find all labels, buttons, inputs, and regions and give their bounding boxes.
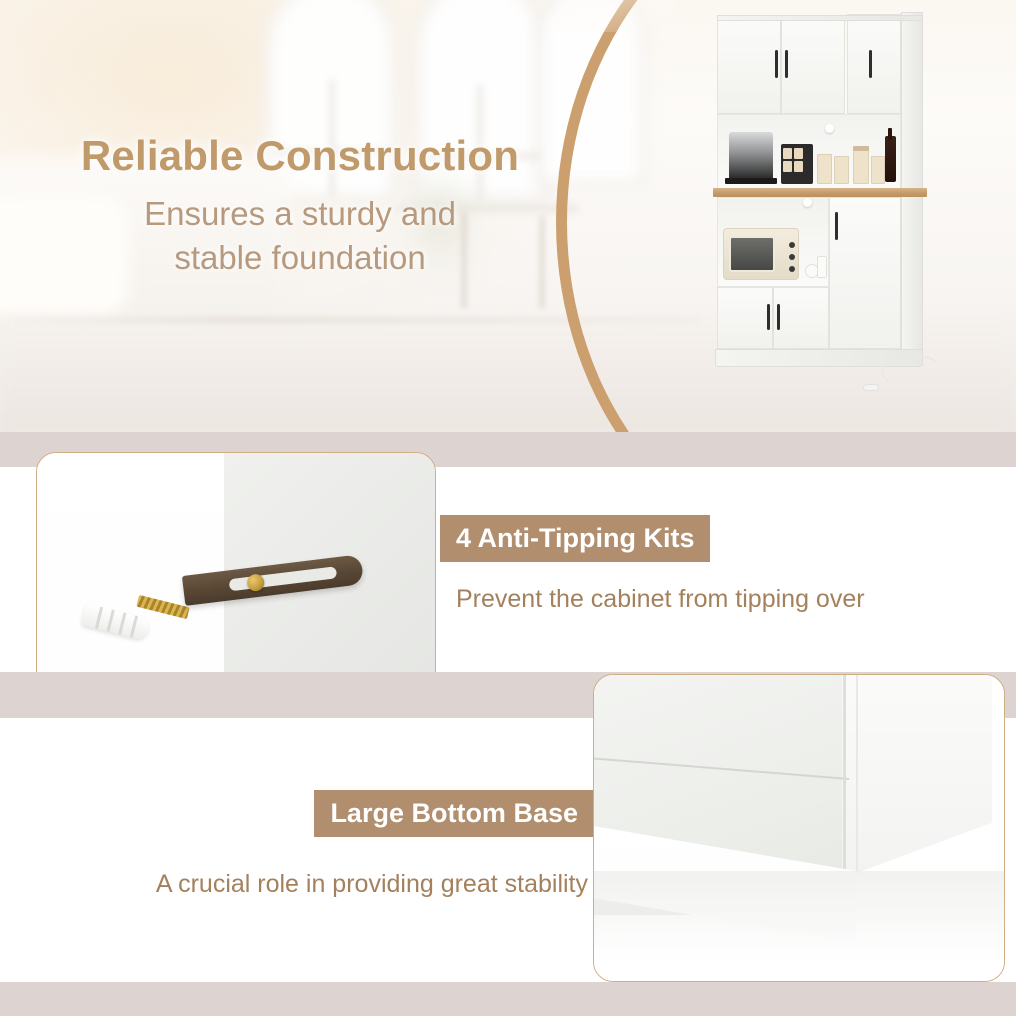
cabinet-top-edge: [717, 15, 923, 21]
pantry-jar: [834, 156, 849, 184]
feature-bottom-base-section: Large Bottom Base A crucial role in prov…: [0, 718, 1016, 982]
pantry-jar-lid: [853, 146, 869, 151]
cabinet-corner-edge: [856, 674, 858, 873]
cabinet-handle: [767, 304, 770, 330]
cabinet-handle: [869, 50, 872, 78]
cabinet-knob-icon: [825, 124, 834, 133]
wood-counter-shelf: [713, 188, 927, 197]
cabinet-knob-icon: [803, 198, 812, 207]
hero-subtitle-line-1: Ensures a sturdy and: [0, 192, 600, 236]
product-cabinet-image: [713, 6, 948, 418]
toaster-oven-knob: [789, 254, 795, 260]
bottom-base-badge: Large Bottom Base: [314, 790, 594, 837]
product-infographic: Reliable Construction Ensures a sturdy a…: [0, 0, 1016, 1016]
cabinet-handle: [785, 50, 788, 78]
anti-tipping-description: Prevent the cabinet from tipping over: [456, 585, 865, 614]
cabinet-door-top-left: [717, 18, 781, 114]
coffee-capsule: [783, 161, 792, 172]
hero-section: Reliable Construction Ensures a sturdy a…: [0, 0, 1016, 432]
coffee-capsule: [794, 148, 803, 159]
power-plug: [863, 384, 879, 391]
anchor-rib: [95, 607, 103, 629]
toaster-oven-glass-door: [729, 236, 775, 272]
bottom-base-description: A crucial role in providing great stabil…: [0, 870, 588, 899]
cabinet-door-top-right: [847, 14, 901, 114]
toaster-oven-knob: [789, 242, 795, 248]
anchor-rib: [107, 610, 115, 632]
wine-bottle: [885, 136, 896, 182]
cabinet-side-panel: [901, 12, 923, 350]
anti-tipping-badge: 4 Anti-Tipping Kits: [440, 515, 710, 562]
pantry-jar: [871, 156, 885, 184]
arc-fade-top: [556, 0, 676, 32]
anchor-rib: [130, 615, 138, 637]
cabinet-door-tall-right: [829, 197, 901, 349]
bottom-base-photo: [593, 674, 1005, 982]
hero-subtitle: Ensures a sturdy and stable foundation: [0, 192, 600, 280]
coffee-capsule: [794, 161, 803, 172]
cabinet-door-bottom-mid: [773, 287, 829, 349]
hero-subtitle-line-2: stable foundation: [0, 236, 600, 280]
cabinet-handle: [835, 212, 838, 240]
coffee-capsule: [783, 148, 792, 159]
cabinet-corner-edge: [843, 674, 846, 879]
floor-shadow: [593, 871, 1005, 961]
cabinet-handle: [777, 304, 780, 330]
base-photo-scene: [594, 675, 1004, 981]
cabinet-handle: [775, 50, 778, 78]
feature-anti-tipping-section: 4 Anti-Tipping Kits Prevent the cabinet …: [0, 467, 1016, 672]
cabinet-side-face: [842, 674, 992, 897]
anti-tipping-text-block: 4 Anti-Tipping Kits Prevent the cabinet …: [438, 467, 1016, 672]
separator-band: [0, 982, 1016, 1016]
ceramic-canister: [817, 256, 827, 278]
toaster-oven-knob: [789, 266, 795, 272]
hero-title: Reliable Construction: [0, 132, 600, 180]
pantry-jar: [817, 154, 832, 184]
espresso-machine: [729, 132, 773, 180]
pantry-jar: [853, 148, 869, 184]
wine-bottle-neck: [888, 128, 892, 140]
espresso-machine-base: [725, 178, 777, 184]
bottom-base-text-block: Large Bottom Base A crucial role in prov…: [0, 762, 594, 928]
cabinet-door-top-mid: [781, 18, 845, 114]
power-cord: [881, 354, 943, 388]
bracket-slot: [229, 566, 338, 591]
hero-text-block: Reliable Construction Ensures a sturdy a…: [0, 132, 600, 280]
anchor-rib: [118, 613, 126, 635]
cabinet-door-bottom-left: [717, 287, 773, 349]
